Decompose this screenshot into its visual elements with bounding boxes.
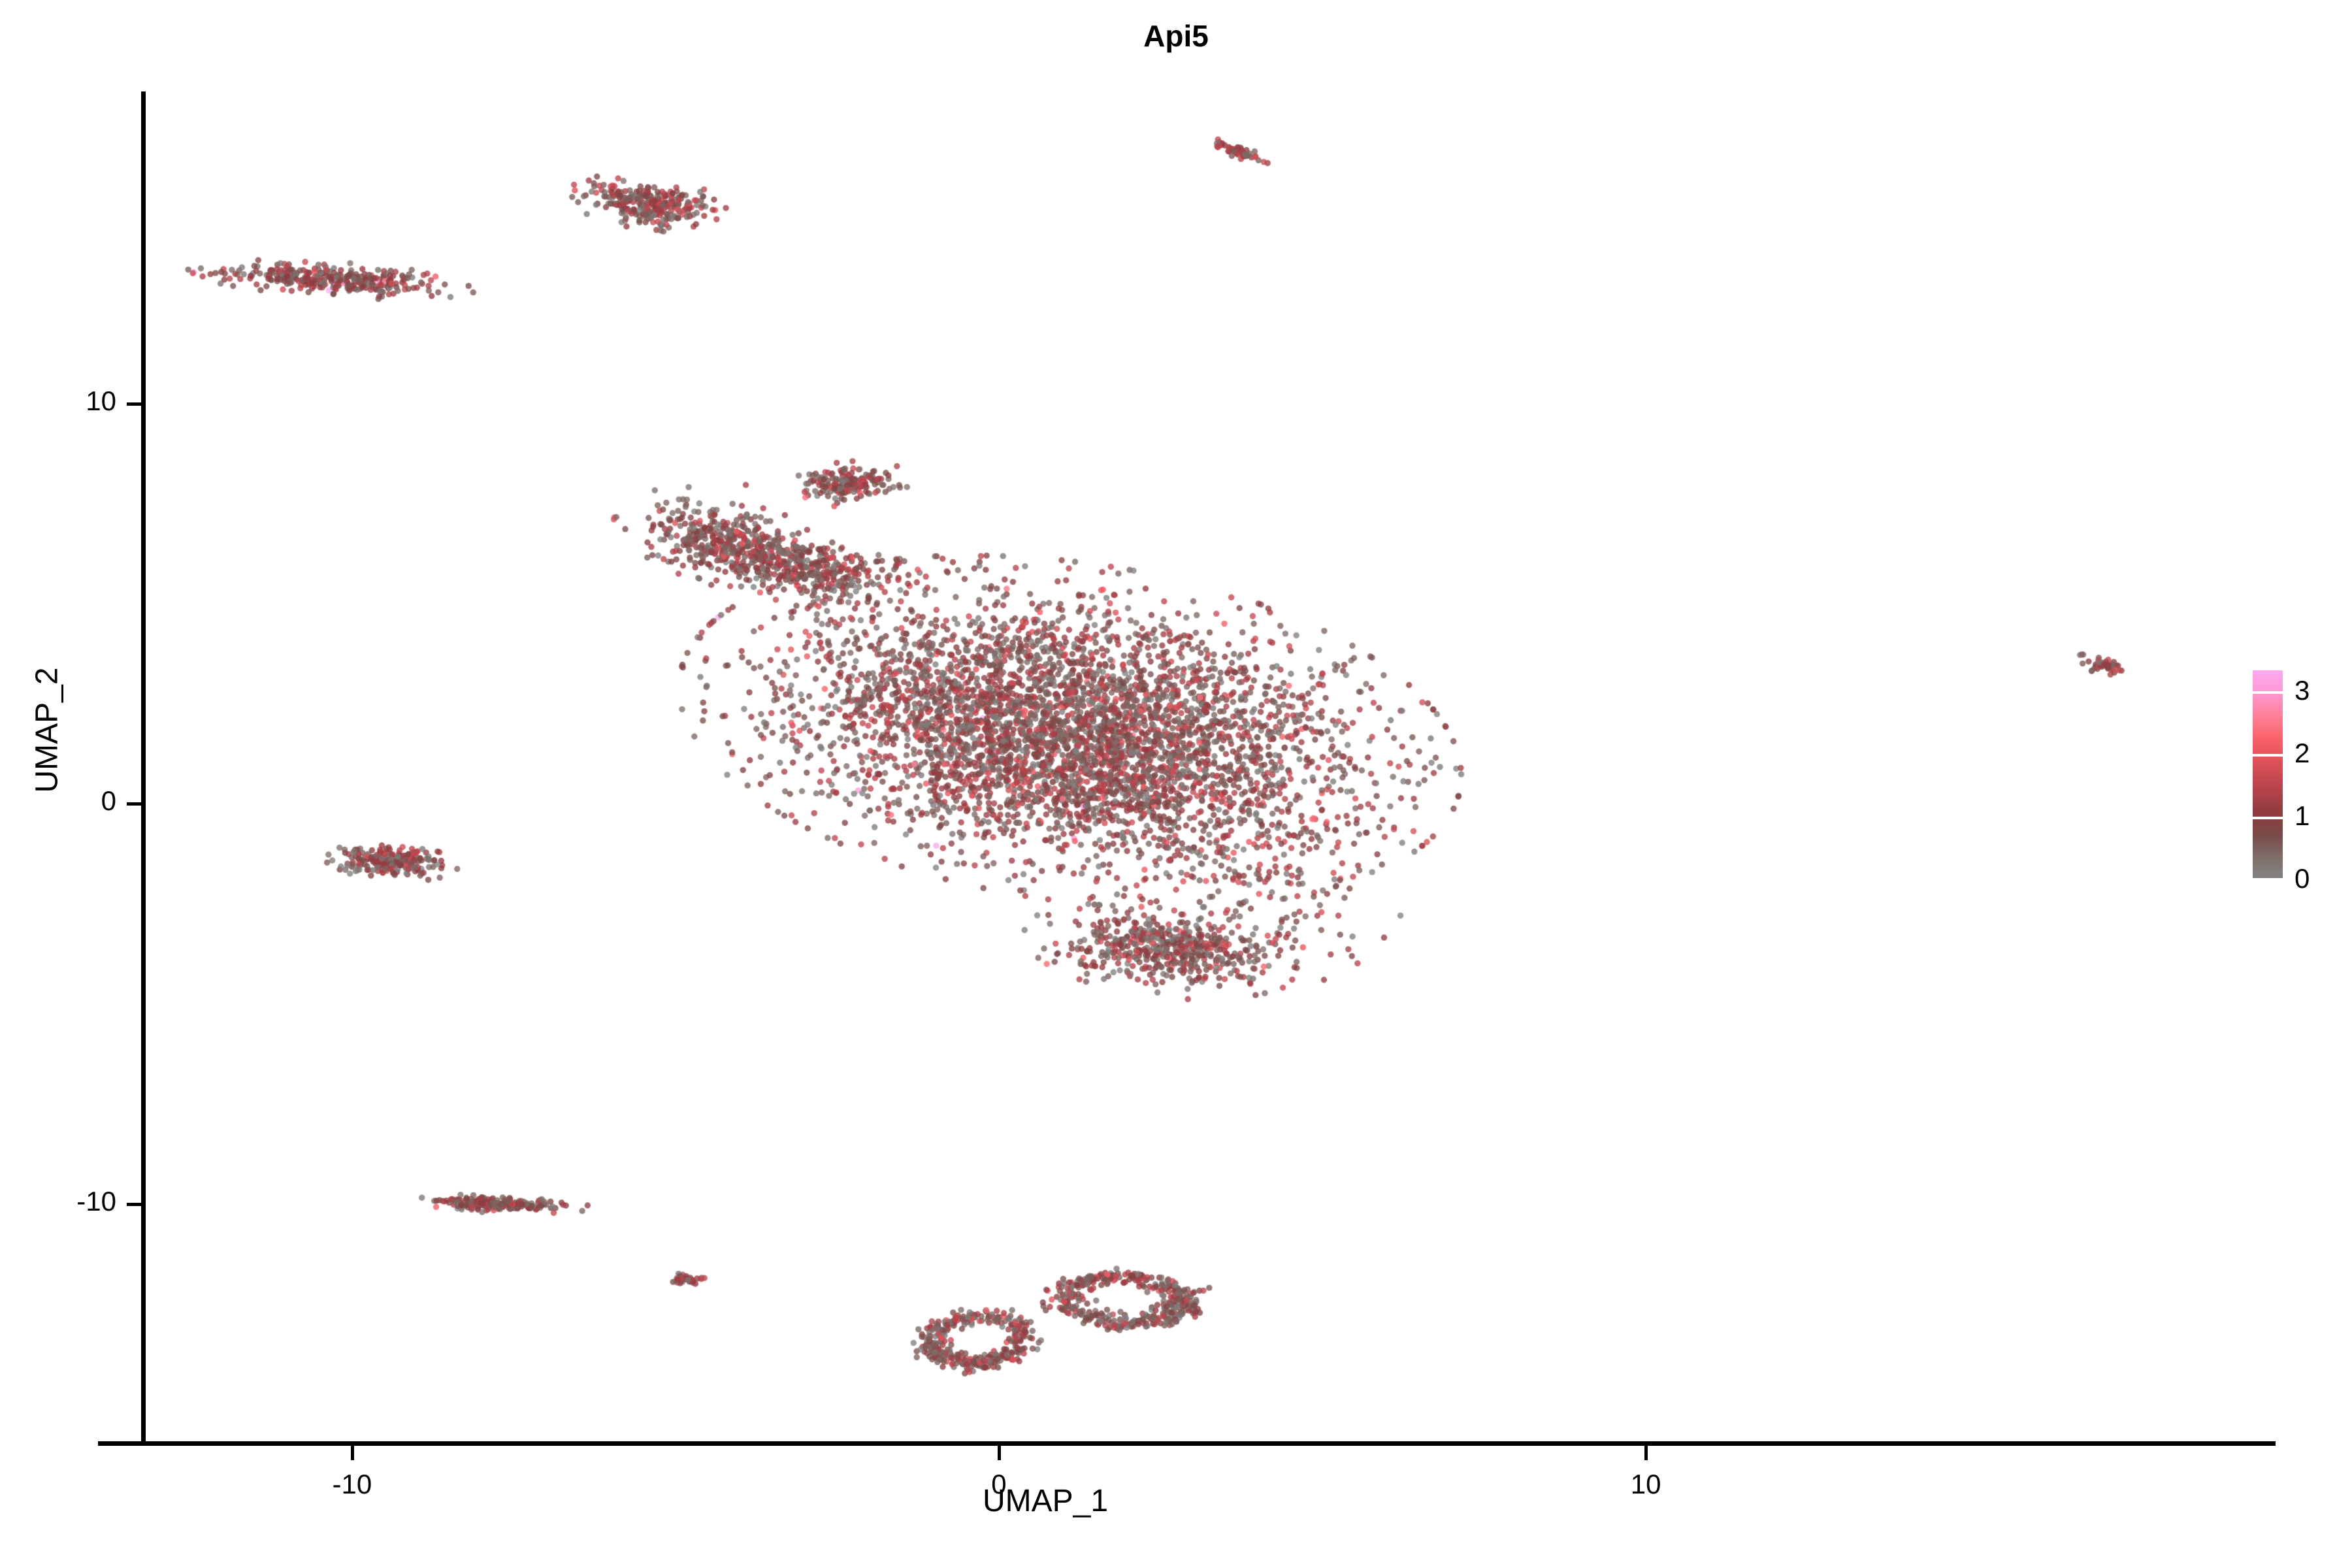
- plot-panel: [145, 91, 2241, 1444]
- color-legend: 0123: [2253, 670, 2351, 886]
- y-tick-label: -10: [0, 1186, 116, 1217]
- umap-scatter-canvas: [145, 91, 2241, 1444]
- x-tick-mark: [998, 1446, 1001, 1460]
- x-tick-mark: [351, 1446, 354, 1460]
- x-tick-label: -10: [254, 1469, 450, 1500]
- x-axis-title: UMAP_1: [653, 1483, 1437, 1519]
- y-tick-mark: [127, 1203, 141, 1206]
- colorbar-tick-label: 3: [2295, 677, 2310, 704]
- x-tick-mark: [1644, 1446, 1648, 1460]
- colorbar-tick-mark: [2253, 817, 2283, 819]
- colorbar-tick-label: 0: [2295, 865, 2310, 892]
- y-axis-line: [141, 91, 146, 1445]
- x-axis-line: [98, 1441, 2276, 1446]
- y-tick-mark: [127, 402, 141, 406]
- x-tick-label: 10: [1548, 1469, 1744, 1500]
- y-tick-mark: [127, 802, 141, 806]
- colorbar-gradient: [2253, 670, 2283, 881]
- colorbar-tick-mark: [2253, 878, 2283, 881]
- colorbar-tick-label: 2: [2295, 740, 2310, 767]
- y-tick-label: 10: [0, 385, 116, 417]
- page-title: Api5: [0, 18, 2352, 54]
- colorbar-tick-label: 1: [2295, 802, 2310, 830]
- y-axis-title: UMAP_2: [29, 561, 65, 900]
- colorbar-tick-mark: [2253, 691, 2283, 694]
- colorbar-tick-mark: [2253, 754, 2283, 757]
- feature-plot-figure: Api5 -10010-10010 UMAP_2 UMAP_1 0123: [0, 0, 2352, 1568]
